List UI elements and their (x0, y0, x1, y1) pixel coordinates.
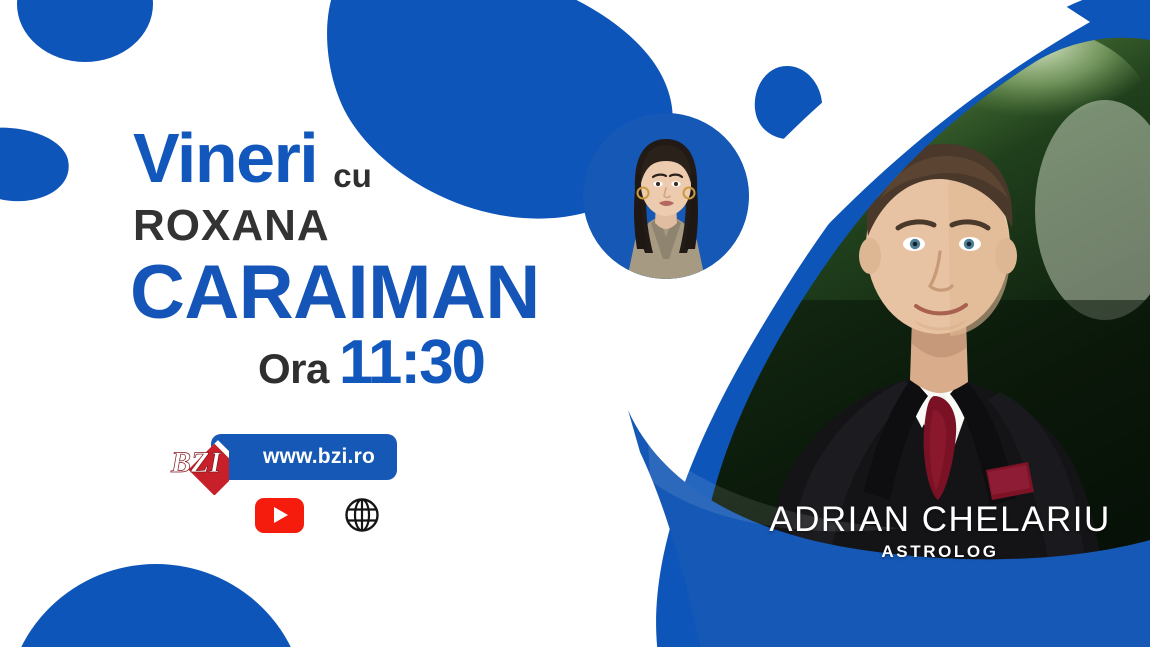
host-last-name: CARAIMAN (0, 252, 600, 334)
promo-graphic: Vinericu ROXANA CARAIMAN Ora11:30 www.bz… (0, 0, 1150, 647)
play-triangle (274, 507, 288, 523)
website-url-pill[interactable]: www.bzi.ro (211, 434, 397, 480)
headline-day-line: Vinericu (0, 122, 600, 194)
svg-text:BZI: BZI (170, 446, 222, 479)
roxana-caraiman-portrait (583, 113, 749, 279)
host-portrait-circle (583, 113, 749, 279)
globe-icon[interactable] (344, 497, 380, 533)
host-first-name: ROXANA (0, 198, 600, 254)
time-label: Ora (258, 336, 329, 402)
day-label: Vineri (133, 122, 317, 194)
bzi-logo-icon[interactable]: BZI (163, 429, 229, 495)
youtube-icon[interactable] (255, 498, 304, 533)
social-icons-row[interactable] (255, 497, 380, 533)
broadcast-time-line: Ora11:30 (0, 330, 600, 412)
with-label: cu (333, 140, 372, 212)
headline-block: Vinericu ROXANA CARAIMAN Ora11:30 (0, 122, 600, 412)
time-value: 11:30 (339, 330, 484, 396)
